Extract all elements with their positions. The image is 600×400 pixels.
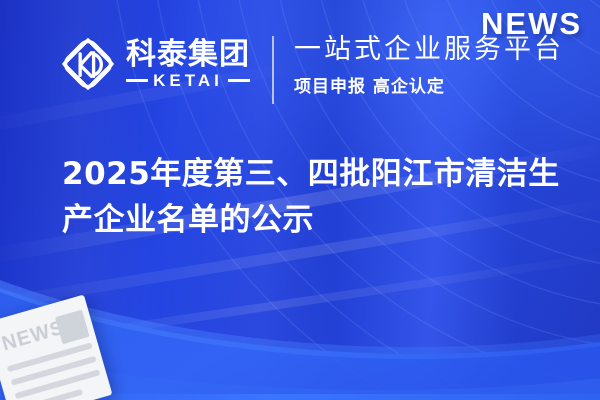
brand-wordmark: 科泰集团 KETAI — [126, 39, 250, 90]
brand-name-en-row: KETAI — [126, 72, 250, 89]
header-divider — [272, 36, 274, 104]
brand-logo[interactable]: 科泰集团 KETAI — [60, 30, 250, 92]
brand-name-cn: 科泰集团 — [126, 39, 250, 71]
tagline-sub: 项目申报 高企认定 — [294, 72, 564, 97]
page-title: 2025年度第三、四批阳江市清洁生产企业名单的公示 — [62, 152, 572, 244]
brand-name-en: KETAI — [153, 72, 223, 89]
dash-left — [126, 79, 148, 82]
news-watermark: NEWS — [481, 6, 582, 42]
dash-right — [228, 79, 250, 82]
banner-header: 科泰集团 KETAI 一站式企业服务平台 项目申报 高企认定 — [60, 30, 600, 120]
ketai-diamond-kd-logo-icon — [60, 36, 116, 92]
news-banner: 科泰集团 KETAI 一站式企业服务平台 项目申报 高企认定 NEWS 2025… — [0, 0, 600, 400]
